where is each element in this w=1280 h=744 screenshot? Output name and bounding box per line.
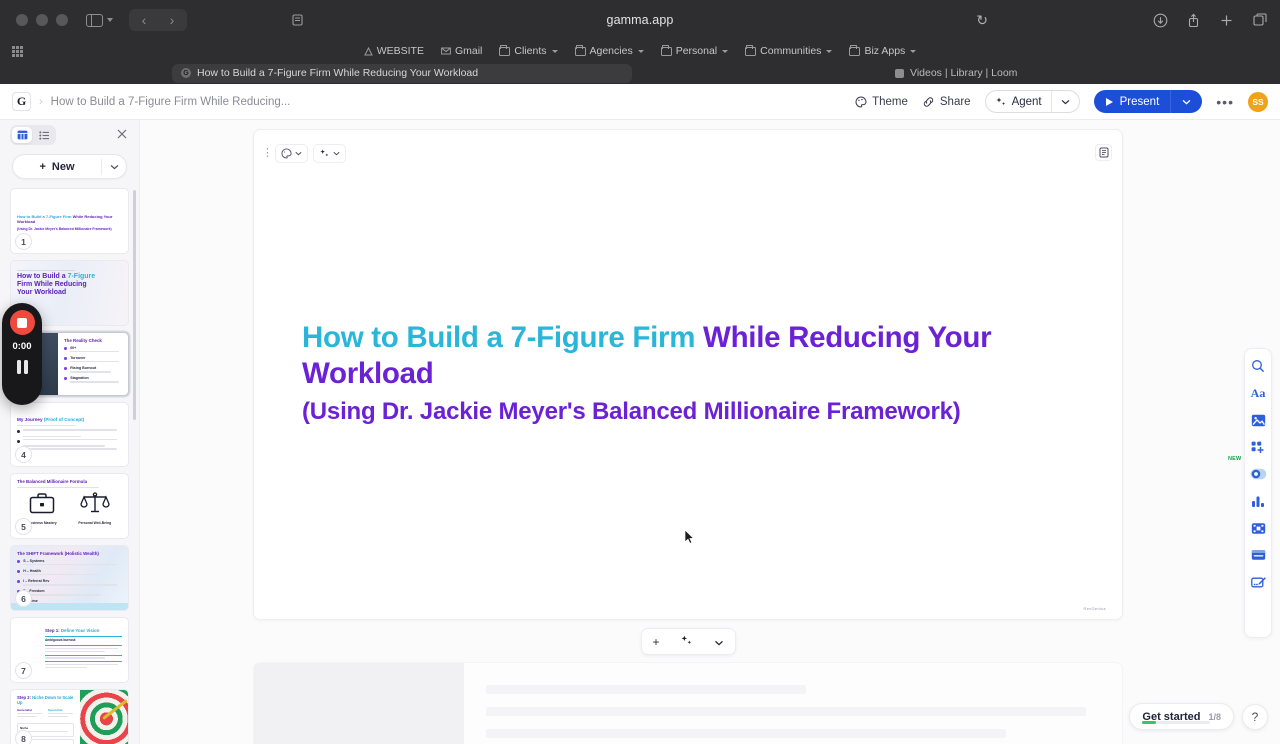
tab-active[interactable]: G How to Build a 7-Figure Firm While Red…: [172, 64, 632, 83]
new-card-button[interactable]: + New: [12, 154, 127, 179]
add-card-button[interactable]: +: [652, 635, 659, 649]
chevron-down-icon: [910, 50, 916, 53]
chevron-down-icon: [107, 18, 113, 22]
play-icon: [1105, 97, 1114, 107]
page-title[interactable]: How to Build a 7-Figure Firm While Reduc…: [51, 96, 291, 108]
folder-icon: [575, 47, 586, 56]
bookmark-clients[interactable]: Clients: [499, 45, 557, 57]
browser-titlebar: ‹ › gamma.app ↻: [0, 0, 1280, 40]
tab-label: Videos | Library | Loom: [910, 67, 1017, 79]
bookmark-biz-apps[interactable]: Biz Apps: [849, 45, 916, 57]
next-card-image: [254, 663, 464, 744]
new-dropdown-button[interactable]: [102, 164, 126, 170]
share-button[interactable]: Share: [922, 96, 971, 108]
reader-view-icon[interactable]: [290, 13, 304, 27]
slide-thumbnail-7[interactable]: Step 1: Define Your Vision Ambiguous bur…: [10, 617, 129, 683]
thumb-item: Personal Well-Being: [78, 521, 111, 525]
link-icon: [922, 96, 935, 108]
gamma-favicon: G: [181, 68, 191, 78]
slide-number: 6: [15, 590, 32, 607]
thumb-title: My Journey (Proof of Concept): [17, 417, 122, 423]
bookmark-label: WEBSITE: [377, 45, 424, 57]
close-icon: [117, 129, 127, 139]
get-started-progress: [1142, 721, 1210, 724]
bookmark-gmail[interactable]: Gmail: [441, 45, 482, 57]
thumb-item: Business Mastery: [28, 521, 57, 525]
headline-cyan-part: How to Build a 7-Figure Firm: [302, 321, 695, 354]
slide-subheadline: (Using Dr. Jackie Meyer's Balanced Milli…: [302, 398, 1058, 426]
get-started-count: 1/8: [1208, 712, 1221, 722]
slide-number: 8: [15, 730, 32, 744]
maximize-window-button[interactable]: [56, 14, 68, 26]
palette-icon: [281, 148, 292, 159]
ai-add-card-button[interactable]: [680, 634, 693, 650]
slide-watermark: RevGenius: [1084, 606, 1107, 611]
insert-card-toolbar[interactable]: +: [641, 628, 736, 655]
thumb-item: Turnover: [70, 356, 122, 360]
slide-number: 7: [15, 662, 32, 679]
browser-chrome: ‹ › gamma.app ↻: [0, 0, 1280, 84]
toolbar-right-icons[interactable]: [1152, 12, 1268, 29]
loom-favicon: [895, 69, 904, 78]
image-icon[interactable]: [1248, 410, 1268, 430]
search-icon[interactable]: [1248, 356, 1268, 376]
thumb-title: The SHIFT Framework (Holistic Wealth): [17, 551, 122, 556]
slide-title-block[interactable]: How to Build a 7-Figure Firm While Reduc…: [302, 320, 1058, 426]
slide-thumbnail-5[interactable]: The Balanced Millionaire Formula Busines…: [10, 473, 129, 539]
slide-thumbnail-1[interactable]: How to Build a 7-Figure Firm While Reduc…: [10, 188, 129, 254]
card-palette-button[interactable]: [275, 144, 308, 163]
chevron-down-icon: [638, 50, 644, 53]
card-notes-button[interactable]: [1095, 144, 1112, 161]
chevron-down-icon: [110, 164, 119, 170]
app-header: G › How to Build a 7-Figure Firm While R…: [0, 84, 1280, 120]
get-started-button[interactable]: Get started 1/8: [1129, 703, 1234, 730]
scales-icon: [80, 492, 110, 519]
new-badge: NEW: [1228, 456, 1241, 462]
card-ai-button[interactable]: [313, 144, 346, 163]
bookmark-label: Gmail: [455, 45, 482, 57]
present-button[interactable]: Present: [1094, 96, 1171, 108]
thumb-title: The Reality Check: [64, 338, 122, 343]
screen-recorder-widget[interactable]: 0:00: [2, 303, 42, 405]
slide-card[interactable]: ⋮ How to Build a 7-Figure Firm While Red…: [253, 129, 1123, 620]
bookmark-label: Communities: [760, 45, 821, 57]
downloads-icon[interactable]: [1152, 12, 1169, 29]
share-icon[interactable]: [1185, 12, 1202, 29]
sidebar-scrollbar[interactable]: [133, 190, 136, 420]
mouse-cursor: [685, 530, 694, 544]
list-view-icon[interactable]: [34, 127, 54, 143]
chevron-down-icon: [722, 50, 728, 53]
sidebar-icon: [86, 14, 103, 27]
agent-label: Agent: [1012, 96, 1042, 108]
forward-button[interactable]: ›: [159, 12, 185, 28]
grid-view-icon[interactable]: [12, 127, 32, 143]
drag-handle-icon[interactable]: ⋮: [262, 149, 270, 158]
tab-strip[interactable]: G How to Build a 7-Figure Firm While Red…: [0, 62, 1280, 84]
bookmark-label: Biz Apps: [864, 45, 905, 57]
new-label: New: [52, 161, 75, 173]
slide-number: 5: [15, 518, 32, 535]
chart-icon[interactable]: [1248, 491, 1268, 511]
draw-icon[interactable]: [1248, 572, 1268, 592]
recording-timer: 0:00: [12, 341, 31, 352]
thumb-title: Step 2: Niche Down to Scale Up: [17, 695, 74, 705]
layout-add-icon[interactable]: [1248, 437, 1268, 457]
bookmark-personal[interactable]: Personal: [661, 45, 728, 57]
nav-arrows[interactable]: ‹ ›: [129, 9, 187, 31]
thumb-item: Stagnation: [70, 376, 122, 380]
tab-label: How to Build a 7-Figure Firm While Reduc…: [197, 67, 478, 79]
new-tab-icon[interactable]: [1218, 12, 1235, 29]
next-slide-card-preview[interactable]: [253, 662, 1123, 744]
ai-sparkle-icon: [319, 148, 330, 159]
agent-button-group[interactable]: Agent: [985, 90, 1080, 113]
embed-icon[interactable]: [1248, 545, 1268, 565]
reload-icon[interactable]: ↻: [976, 12, 988, 29]
back-button[interactable]: ‹: [131, 12, 157, 28]
chevron-down-icon: [333, 151, 340, 156]
thumb-item: S – Systems: [23, 559, 122, 563]
chevron-down-icon: [1182, 99, 1191, 105]
chevron-down-icon: [552, 50, 558, 53]
editor-canvas: ⋮ How to Build a 7-Figure Firm While Red…: [140, 120, 1280, 744]
tab-loom[interactable]: Videos | Library | Loom: [895, 67, 1017, 79]
tab-overview-icon[interactable]: [1251, 12, 1268, 29]
help-button[interactable]: ?: [1242, 704, 1268, 730]
view-toggle-group[interactable]: [10, 125, 56, 145]
chevron-down-icon: [1061, 99, 1070, 105]
insert-tools-rail[interactable]: Aa NEW: [1244, 348, 1272, 638]
window-controls[interactable]: [16, 14, 68, 26]
sidebar-toolbar: [0, 120, 139, 150]
bookmark-agencies[interactable]: Agencies: [575, 45, 644, 57]
ai-toggle-icon[interactable]: NEW: [1248, 464, 1268, 484]
close-sidebar-button[interactable]: [117, 128, 127, 142]
theme-label: Theme: [872, 96, 908, 108]
triangle-icon: [364, 47, 373, 56]
thumb-title: Step 1: Define Your Vision: [45, 628, 122, 633]
present-dropdown-button[interactable]: [1171, 99, 1202, 105]
thumb-item: I – Referral Rev: [23, 579, 122, 583]
slide-number: 1: [15, 233, 32, 250]
folder-icon: [745, 47, 756, 56]
bookmarks-bar[interactable]: WEBSITE Gmail Clients Agencies Personal …: [0, 40, 1280, 62]
thumb-item: H – Health: [23, 569, 122, 573]
agent-button[interactable]: Agent: [986, 96, 1051, 108]
palette-icon: [855, 96, 867, 108]
card-notes-icon: [1099, 147, 1109, 158]
slide-thumbnail-6[interactable]: The SHIFT Framework (Holistic Wealth) S …: [10, 545, 129, 611]
avatar[interactable]: SS: [1248, 92, 1268, 112]
share-label: Share: [940, 96, 971, 108]
folder-icon: [499, 47, 510, 56]
thumb-item: 60+: [70, 346, 122, 350]
agent-dropdown-button[interactable]: [1052, 99, 1079, 105]
address-bar[interactable]: gamma.app ↻: [290, 6, 990, 34]
close-window-button[interactable]: [16, 14, 28, 26]
slide-headline: How to Build a 7-Figure Firm While Reduc…: [302, 320, 1058, 392]
thumb-item: Rising Burnout: [70, 366, 122, 370]
url-text: gamma.app: [607, 13, 674, 27]
chevron-down-icon: [295, 151, 302, 156]
folder-icon: [849, 47, 860, 56]
slides-sidebar: + New How to Build a 7-Figure Firm While…: [0, 120, 140, 744]
thumb-title: How to Build a 7-Figure Firm While Reduc…: [17, 215, 122, 225]
insert-dropdown-button[interactable]: [714, 635, 724, 649]
slide-thumbnail-4[interactable]: My Journey (Proof of Concept) 4: [10, 402, 129, 467]
briefcase-icon: [29, 492, 55, 519]
gamma-app: G › How to Build a 7-Figure Firm While R…: [0, 84, 1280, 744]
ai-sparkle-icon: [995, 96, 1007, 108]
slide-thumbnails[interactable]: How to Build a 7-Figure Firm While Reduc…: [0, 182, 139, 744]
bookmark-label: Clients: [514, 45, 546, 57]
card-toolbar[interactable]: ⋮: [262, 144, 346, 163]
chevron-down-icon: [826, 50, 832, 53]
gmail-icon: [441, 47, 451, 55]
thumb-title: The Balanced Millionaire Formula: [17, 479, 122, 484]
folder-icon: [661, 47, 672, 56]
chevron-down-icon: [714, 640, 724, 646]
thumb-item: F – Freedom: [23, 589, 122, 593]
pause-recording-button[interactable]: [17, 360, 28, 374]
sidebar-toggle-button[interactable]: [86, 14, 113, 27]
dartboard-image: [80, 690, 128, 744]
stop-recording-button[interactable]: [10, 310, 35, 335]
thumb-title: How to Build a 7-FigureFirm While Reduci…: [17, 273, 122, 297]
breadcrumb-separator: ›: [39, 96, 43, 108]
bookmark-website[interactable]: WEBSITE: [364, 45, 424, 57]
plus-icon: +: [39, 161, 45, 173]
slide-number: 4: [15, 446, 32, 463]
get-started-widget[interactable]: Get started 1/8 ?: [1129, 703, 1268, 730]
present-label: Present: [1120, 96, 1160, 108]
theme-button[interactable]: Theme: [855, 96, 908, 108]
bookmark-label: Personal: [676, 45, 717, 57]
slide-thumbnail-8[interactable]: Step 2: Niche Down to Scale Up Generalis…: [10, 689, 129, 744]
bookmark-label: Agencies: [590, 45, 633, 57]
bookmark-communities[interactable]: Communities: [745, 45, 832, 57]
gamma-logo[interactable]: G: [12, 92, 31, 111]
present-button-group[interactable]: Present: [1094, 90, 1203, 113]
thumb-subtitle: (Using Dr. Jackie Meyer's Balanced Milli…: [17, 227, 122, 231]
bookmarks-grid-icon[interactable]: [12, 46, 23, 57]
video-icon[interactable]: [1248, 518, 1268, 538]
minimize-window-button[interactable]: [36, 14, 48, 26]
text-icon[interactable]: Aa: [1248, 383, 1268, 403]
ai-sparkle-icon: [680, 634, 693, 647]
more-options-button[interactable]: •••: [1216, 94, 1234, 110]
